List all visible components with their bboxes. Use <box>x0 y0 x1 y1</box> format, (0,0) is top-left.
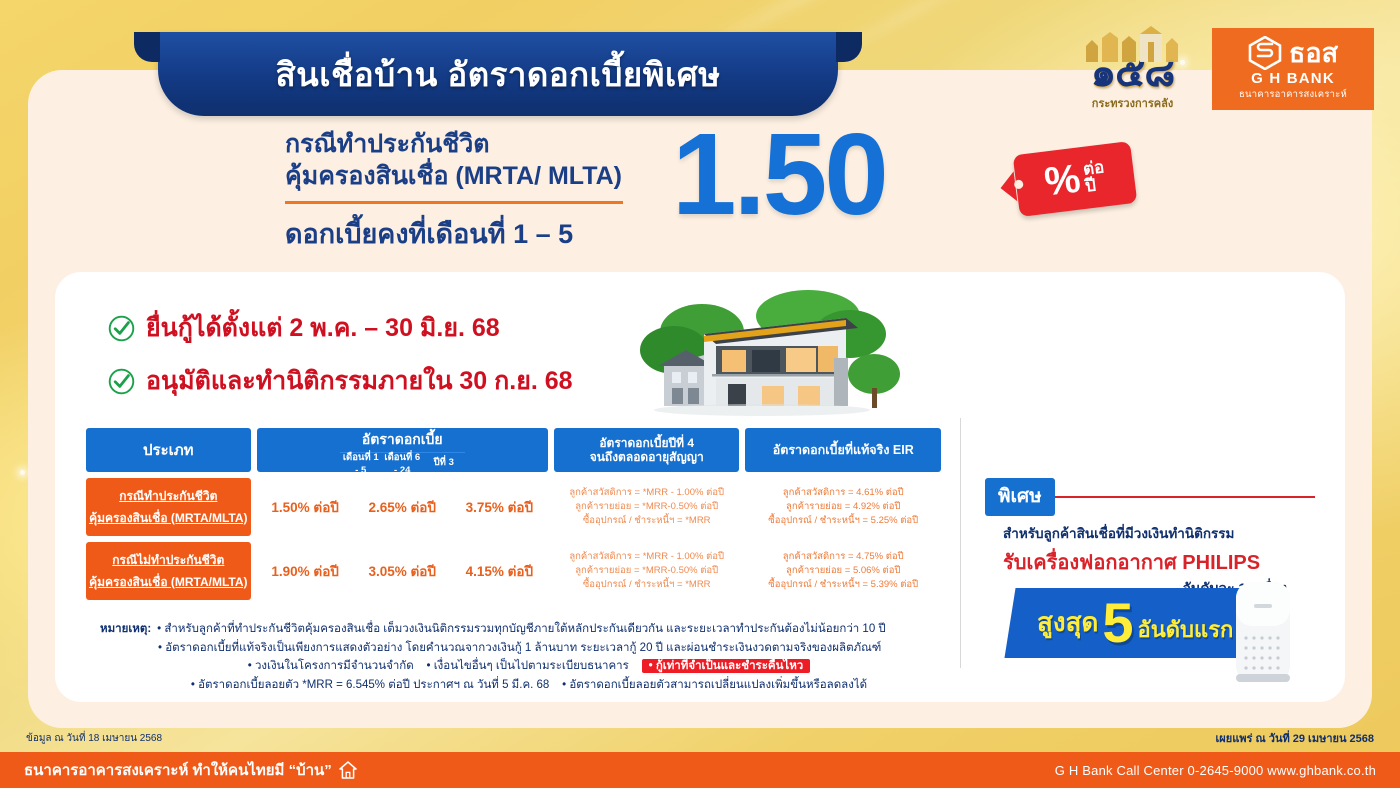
bank-name-th: ธอส <box>1289 40 1338 67</box>
footer-contact: G H Bank Call Center 0-2645-9000 www.ghb… <box>1055 763 1376 778</box>
promo-badge: พิเศษ <box>985 478 1055 516</box>
header-ribbon: สินเชื่อบ้าน อัตราดอกเบี้ยพิเศษ <box>158 32 838 116</box>
hero-divider <box>285 201 623 204</box>
hero-subtitle: ดอกเบี้ยคงที่เดือนที่ 1 – 5 <box>285 212 685 255</box>
rate-year-3: 3.75% ต่อปี <box>451 478 548 536</box>
ghbank-logo: ธอส G H BANK ธนาคารอาคารสงเคราะห์ <box>1212 28 1374 110</box>
row-year4-detail: ลูกค้าสวัสดิการ = *MRR - 1.00% ต่อปี ลูก… <box>554 542 740 600</box>
footnotes: หมายเหตุ: • สำหรับลูกค้าที่ทำประกันชีวิต… <box>100 620 900 695</box>
column-header-type: ประเภท <box>86 428 251 472</box>
publish-date-stamp: เผยแพร่ ณ วันที่ 29 เมษายน 2568 <box>1216 729 1374 747</box>
footer-slogan: ธนาคารอาคารสงเคราะห์ ทำให้คนไทยมี “บ้าน” <box>24 758 332 782</box>
eir-welfare: ลูกค้าสวัสดิการ = 4.61% ต่อปี <box>783 486 904 500</box>
air-purifier-image <box>1224 578 1302 690</box>
ministry-name: กระทรวงการคลัง <box>1092 94 1173 112</box>
rate-months-6-24: 2.65% ต่อปี <box>354 478 451 536</box>
note-line-3: • วงเงินในโครงการมีจำนวนจำกัด • เงื่อนไข… <box>100 657 900 676</box>
page-title: สินเชื่อบ้าน อัตราดอกเบี้ยพิเศษ <box>276 48 721 101</box>
ghbank-hexagon-icon <box>1248 36 1282 70</box>
year4-retail: ลูกค้ารายย่อย = *MRR-0.50% ต่อปี <box>575 500 718 514</box>
vertical-divider <box>960 418 961 668</box>
check-circle-icon <box>108 368 135 395</box>
promo-ribbon-number: 5 <box>1102 599 1133 647</box>
list-item: อนุมัติและทำนิติกรรมภายใน 30 ก.ย. 68 <box>108 361 573 401</box>
row-type-label: กรณีไม่ทำประกันชีวิต คุ้มครองสินเชื่อ (M… <box>86 542 251 600</box>
row-rate-cells: 1.50% ต่อปี 2.65% ต่อปี 3.75% ต่อปี <box>257 478 548 536</box>
eir-equipment: ซื้ออุปกรณ์ / ชำระหนี้ฯ = 5.39% ต่อปี <box>768 578 918 592</box>
column-subheader-months-6-24: เดือนที่ 6 - 24 <box>381 453 423 472</box>
column-subheader-months-1-5: เดือนที่ 1 - 5 <box>340 453 382 472</box>
hero-line-1: กรณีทำประกันชีวิต <box>285 128 685 160</box>
row-type-label: กรณีทำประกันชีวิต คุ้มครองสินเชื่อ (MRTA… <box>86 478 251 536</box>
sparkle-icon <box>20 470 25 475</box>
bank-name-en: G H BANK <box>1251 71 1335 86</box>
eir-retail: ลูกค้ารายย่อย = 5.06% ต่อปี <box>786 564 900 578</box>
rate-months-1-5: 1.90% ต่อปี <box>257 542 354 600</box>
year4-welfare: ลูกค้าสวัสดิการ = *MRR - 1.00% ต่อปี <box>569 550 724 564</box>
year4-equipment: ซื้ออุปกรณ์ / ชำระหนี้ฯ = *MRR <box>583 514 711 528</box>
percent-symbol: % <box>1043 161 1083 201</box>
row-year4-detail: ลูกค้าสวัสดิการ = *MRR - 1.00% ต่อปี ลูก… <box>554 478 740 536</box>
home-icon <box>339 761 357 779</box>
note-mrr-value: • อัตราดอกเบี้ยลอยตัว *MRR = 6.545% ต่อป… <box>191 679 549 691</box>
eligibility-list: ยื่นกู้ได้ตั้งแต่ 2 พ.ค. – 30 มิ.ย. 68 อ… <box>108 308 573 414</box>
row-eir-detail: ลูกค้าสวัสดิการ = 4.61% ต่อปี ลูกค้ารายย… <box>745 478 941 536</box>
row-rate-cells: 1.90% ต่อปี 3.05% ต่อปี 4.15% ต่อปี <box>257 542 548 600</box>
promo-ribbon-prefix: สูงสุด <box>1037 603 1098 644</box>
column-header-year4-line1: อัตราดอกเบี้ยปีที่ 4 <box>590 436 704 450</box>
government-building-icon <box>1082 26 1184 62</box>
column-subheader-year-3: ปีที่ 3 <box>423 453 465 472</box>
note-floating-rate: • อัตราดอกเบี้ยลอยตัวสามารถเปลี่ยนแปลงเพ… <box>562 679 867 691</box>
rate-months-1-5: 1.50% ต่อปี <box>257 478 354 536</box>
eligibility-text: อนุมัติและทำนิติกรรมภายใน 30 ก.ย. 68 <box>146 361 573 401</box>
row-type-line2: คุ้มครองสินเชื่อ (MRTA/MLTA) <box>89 509 247 528</box>
eir-equipment: ซื้ออุปกรณ์ / ชำระหนี้ฯ = 5.25% ต่อปี <box>768 514 918 528</box>
table-row: กรณีทำประกันชีวิต คุ้มครองสินเชื่อ (MRTA… <box>86 478 941 536</box>
note-limited-budget: • วงเงินในโครงการมีจำนวนจำกัด <box>248 660 414 672</box>
row-type-line1: กรณีทำประกันชีวิต <box>119 487 217 506</box>
note-line-4: • อัตราดอกเบี้ยลอยตัว *MRR = 6.545% ต่อป… <box>100 676 900 695</box>
tag-unit-line-2: ปี <box>1084 175 1107 195</box>
notes-label: หมายเหตุ: <box>100 620 151 639</box>
promo-text-2: รับเครื่องฟอกอากาศ PHILIPS <box>1003 546 1315 578</box>
column-header-eir: อัตราดอกเบี้ยที่แท้จริง EIR <box>745 428 941 472</box>
note-line-2: • อัตราดอกเบี้ยที่แท้จริงเป็นเพียงการแสด… <box>100 639 900 658</box>
row-type-line2: คุ้มครองสินเชื่อ (MRTA/MLTA) <box>89 573 247 592</box>
note-borrow-responsibly-badge: • กู้เท่าที่จำเป็นและชำระคืนไหว <box>642 659 811 673</box>
hero-line-2: คุ้มครองสินเชื่อ (MRTA/ MLTA) <box>285 160 685 192</box>
promo-ribbon-suffix: อันดับแรก <box>1137 612 1233 647</box>
check-circle-icon <box>108 315 135 342</box>
headline-rate-value: 1.50 <box>672 116 886 232</box>
eligibility-text: ยื่นกู้ได้ตั้งแต่ 2 พ.ค. – 30 มิ.ย. 68 <box>146 308 500 348</box>
house-illustration <box>612 288 912 416</box>
year4-equipment: ซื้ออุปกรณ์ / ชำระหนี้ฯ = *MRR <box>583 578 711 592</box>
rate-months-6-24: 3.05% ต่อปี <box>354 542 451 600</box>
ministry-of-finance-logo: ๑๕๘ กระทรวงการคลัง <box>1060 24 1205 112</box>
hero-text-block: กรณีทำประกันชีวิต คุ้มครองสินเชื่อ (MRTA… <box>285 128 685 255</box>
list-item: ยื่นกู้ได้ตั้งแต่ 2 พ.ค. – 30 มิ.ย. 68 <box>108 308 573 348</box>
interest-rate-table: ประเภท อัตราดอกเบี้ย เดือนที่ 1 - 5 เดือ… <box>86 428 941 600</box>
tag-hole-icon <box>1014 179 1024 189</box>
eir-welfare: ลูกค้าสวัสดิการ = 4.75% ต่อปี <box>783 550 904 564</box>
year4-retail: ลูกค้ารายย่อย = *MRR-0.50% ต่อปี <box>575 564 718 578</box>
row-eir-detail: ลูกค้าสวัสดิการ = 4.75% ต่อปี ลูกค้ารายย… <box>745 542 941 600</box>
column-header-year4: อัตราดอกเบี้ยปีที่ 4 จนถึงตลอดอายุสัญญา <box>554 428 740 472</box>
row-type-line1: กรณีไม่ทำประกันชีวิต <box>112 551 224 570</box>
note-line-1: • สำหรับลูกค้าที่ทำประกันชีวิตคุ้มครองสิ… <box>157 620 886 639</box>
data-date-stamp: ข้อมูล ณ วันที่ 18 เมษายน 2568 <box>26 731 162 746</box>
bank-fullname-th: ธนาคารอาคารสงเคราะห์ <box>1239 87 1347 102</box>
footer-bar: ธนาคารอาคารสงเคราะห์ ทำให้คนไทยมี “บ้าน”… <box>0 752 1400 788</box>
column-header-rate-group: อัตราดอกเบี้ย เดือนที่ 1 - 5 เดือนที่ 6 … <box>257 428 548 472</box>
table-header-row: ประเภท อัตราดอกเบี้ย เดือนที่ 1 - 5 เดือ… <box>86 428 941 472</box>
year4-welfare: ลูกค้าสวัสดิการ = *MRR - 1.00% ต่อปี <box>569 486 724 500</box>
table-row: กรณีไม่ทำประกันชีวิต คุ้มครองสินเชื่อ (M… <box>86 542 941 600</box>
note-other-conditions: • เงื่อนไขอื่นๆ เป็นไปตามระเบียบธนาคาร <box>427 660 629 672</box>
promo-text-1: สำหรับลูกค้าสินเชื่อที่มีวงเงินทำนิติกรร… <box>1003 522 1315 544</box>
promo-rule <box>1055 496 1315 498</box>
eir-retail: ลูกค้ารายย่อย = 4.92% ต่อปี <box>786 500 900 514</box>
column-header-year4-line2: จนถึงตลอดอายุสัญญา <box>590 450 704 464</box>
column-header-rate: อัตราดอกเบี้ย <box>362 428 443 452</box>
rate-year-3: 4.15% ต่อปี <box>451 542 548 600</box>
